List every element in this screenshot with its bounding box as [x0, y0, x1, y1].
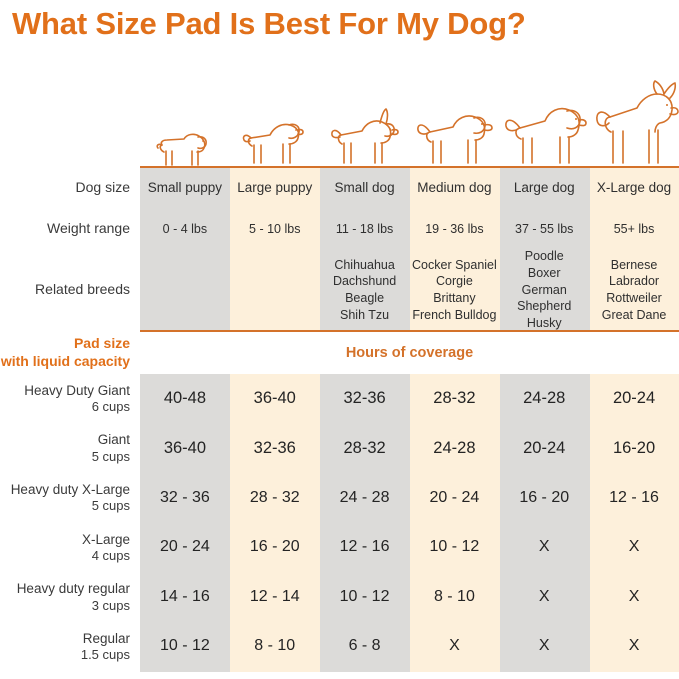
cell-hours-2-3: 20 - 24 — [409, 473, 499, 523]
pad-name-1: Giant — [98, 431, 130, 448]
cell-hours-5-0: 10 - 12 — [140, 622, 230, 672]
medium-dog-icon — [410, 78, 500, 168]
row-label-pad-0: Heavy Duty Giant 6 cups — [0, 374, 140, 424]
table-row: Heavy duty X-Large 5 cups 32 - 36 28 - 3… — [0, 473, 679, 523]
cell-hours-1-1: 32-36 — [230, 424, 320, 474]
cell-hours-4-5: X — [589, 572, 679, 622]
row-label-pad-4: Heavy duty regular 3 cups — [0, 572, 140, 622]
cell-hours-4-4: X — [499, 572, 589, 622]
cell-breeds-6: Bernese Labrador Rottweiler Great Dane — [589, 250, 679, 330]
cell-hours-0-3: 28-32 — [409, 374, 499, 424]
cell-hours-2-2: 24 - 28 — [320, 473, 410, 523]
pad-capacity-5: 1.5 cups — [81, 647, 130, 664]
cell-hours-1-3: 24-28 — [409, 424, 499, 474]
pad-capacity-4: 3 cups — [92, 598, 130, 615]
cell-hours-3-1: 16 - 20 — [230, 523, 320, 573]
cell-breeds-1 — [140, 250, 230, 330]
cell-breeds-3: Chihuahua Dachshund Beagle Shih Tzu — [320, 250, 410, 330]
cell-hours-0-2: 32-36 — [320, 374, 410, 424]
cell-hours-2-1: 28 - 32 — [230, 473, 320, 523]
cell-dog-size-5: Large dog — [499, 168, 589, 208]
pad-size-line-1: Pad size — [74, 335, 130, 353]
table-row: Regular 1.5 cups 10 - 12 8 - 10 6 - 8 X … — [0, 622, 679, 672]
cell-hours-1-5: 16-20 — [589, 424, 679, 474]
cell-breeds-5: Poodle Boxer German Shepherd Husky — [499, 250, 589, 330]
cell-hours-5-5: X — [589, 622, 679, 672]
cell-dog-size-3: Small dog — [320, 168, 410, 208]
pad-name-2: Heavy duty X-Large — [11, 481, 130, 498]
row-label-pad-size: Pad size with liquid capacity — [0, 331, 140, 374]
cell-hours-0-1: 36-40 — [230, 374, 320, 424]
cell-hours-0-4: 24-28 — [499, 374, 589, 424]
pad-name-4: Heavy duty regular — [17, 580, 130, 597]
row-hours-of-coverage: Pad size with liquid capacity Hours of c… — [0, 331, 679, 374]
table-row: Giant 5 cups 36-40 32-36 28-32 24-28 20-… — [0, 424, 679, 474]
pad-capacity-1: 5 cups — [92, 449, 130, 466]
xlarge-dog-icon — [590, 78, 679, 168]
cell-hours-4-0: 14 - 16 — [140, 572, 230, 622]
cell-dog-size-2: Large puppy — [230, 168, 320, 208]
cell-hours-3-0: 20 - 24 — [140, 523, 230, 573]
cell-hours-5-2: 6 - 8 — [320, 622, 410, 672]
pad-capacity-0: 6 cups — [92, 399, 130, 416]
cell-weight-5: 37 - 55 lbs — [499, 208, 589, 250]
table-row: Heavy duty regular 3 cups 14 - 16 12 - 1… — [0, 572, 679, 622]
pad-size-line-2: with liquid capacity — [1, 353, 130, 371]
cell-breeds-2 — [230, 250, 320, 330]
row-weight-range: Weight range 0 - 4 lbs 5 - 10 lbs 11 - 1… — [0, 208, 679, 250]
cell-hours-3-3: 10 - 12 — [409, 523, 499, 573]
dog-illustration-row — [140, 78, 679, 168]
cell-hours-4-3: 8 - 10 — [409, 572, 499, 622]
cell-breeds-4: Cocker Spaniel Corgie Brittany French Bu… — [409, 250, 499, 330]
large-dog-icon — [500, 78, 590, 168]
cell-hours-2-5: 12 - 16 — [589, 473, 679, 523]
cell-hours-1-2: 28-32 — [320, 424, 410, 474]
cell-dog-size-4: Medium dog — [409, 168, 499, 208]
row-label-pad-5: Regular 1.5 cups — [0, 622, 140, 672]
row-label-pad-3: X-Large 4 cups — [0, 523, 140, 573]
small-dog-icon — [320, 78, 410, 168]
cell-hours-0-5: 20-24 — [589, 374, 679, 424]
cell-hours-4-2: 10 - 12 — [320, 572, 410, 622]
cell-weight-3: 11 - 18 lbs — [320, 208, 410, 250]
cell-weight-4: 19 - 36 lbs — [409, 208, 499, 250]
cell-hours-2-0: 32 - 36 — [140, 473, 230, 523]
cell-dog-size-6: X-Large dog — [589, 168, 679, 208]
row-related-breeds: Related breeds Chihuahua Dachshund Beagl… — [0, 250, 679, 330]
pad-name-3: X-Large — [82, 531, 130, 548]
row-label-dog-size: Dog size — [0, 168, 140, 208]
cell-hours-3-2: 12 - 16 — [320, 523, 410, 573]
cell-weight-1: 0 - 4 lbs — [140, 208, 230, 250]
cell-hours-5-4: X — [499, 622, 589, 672]
pad-capacity-2: 5 cups — [92, 498, 130, 515]
hours-of-coverage-label: Hours of coverage — [140, 331, 679, 374]
cell-hours-3-4: X — [499, 523, 589, 573]
cell-hours-5-1: 8 - 10 — [230, 622, 320, 672]
row-label-pad-1: Giant 5 cups — [0, 424, 140, 474]
page-title: What Size Pad Is Best For My Dog? — [12, 6, 672, 42]
cell-hours-5-3: X — [409, 622, 499, 672]
row-dog-size: Dog size Small puppy Large puppy Small d… — [0, 168, 679, 208]
infographic-root: What Size Pad Is Best For My Dog? — [0, 0, 679, 679]
cell-hours-3-5: X — [589, 523, 679, 573]
cell-hours-4-1: 12 - 14 — [230, 572, 320, 622]
cell-hours-0-0: 40-48 — [140, 374, 230, 424]
small-puppy-icon — [140, 78, 230, 168]
pad-capacity-3: 4 cups — [92, 548, 130, 565]
large-puppy-icon — [230, 78, 320, 168]
table-row: Heavy Duty Giant 6 cups 40-48 36-40 32-3… — [0, 374, 679, 424]
row-label-weight-range: Weight range — [0, 208, 140, 250]
row-label-pad-2: Heavy duty X-Large 5 cups — [0, 473, 140, 523]
cell-hours-2-4: 16 - 20 — [499, 473, 589, 523]
cell-hours-1-0: 36-40 — [140, 424, 230, 474]
pad-name-0: Heavy Duty Giant — [24, 382, 130, 399]
pad-name-5: Regular — [83, 630, 130, 647]
cell-weight-2: 5 - 10 lbs — [230, 208, 320, 250]
cell-dog-size-1: Small puppy — [140, 168, 230, 208]
cell-weight-6: 55+ lbs — [589, 208, 679, 250]
row-label-related-breeds: Related breeds — [0, 250, 140, 330]
cell-hours-1-4: 20-24 — [499, 424, 589, 474]
table-row: X-Large 4 cups 20 - 24 16 - 20 12 - 16 1… — [0, 523, 679, 573]
